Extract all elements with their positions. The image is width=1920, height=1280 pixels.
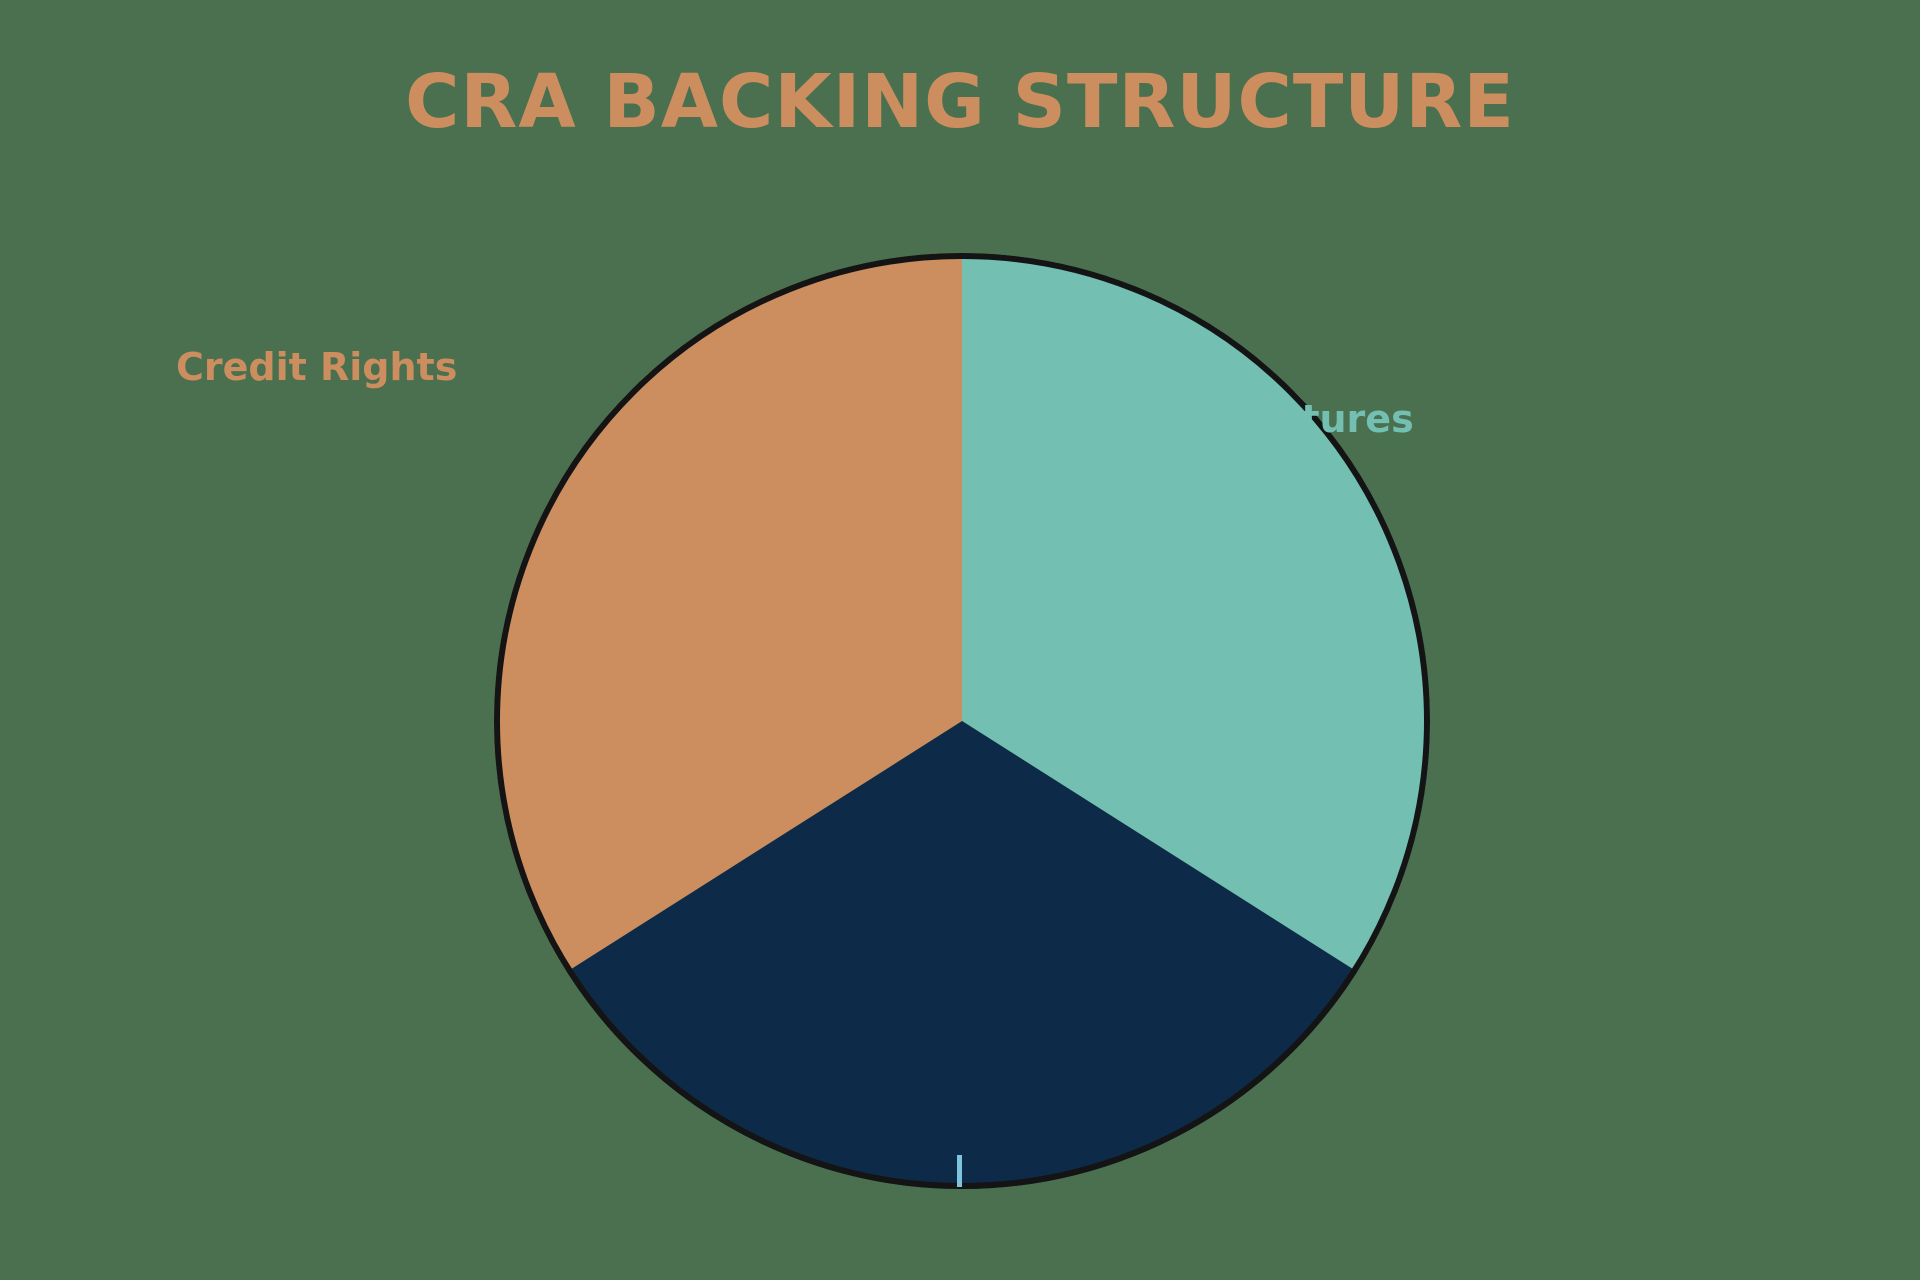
slice-label-others: Others bbox=[0, 990, 1920, 1030]
chart-canvas: CRA BACKING STRUCTURE Credit Rights Debe… bbox=[0, 0, 1920, 1280]
pie-chart bbox=[494, 253, 1430, 1189]
others-leader-line bbox=[957, 1155, 962, 1187]
pie-chart-svg bbox=[494, 253, 1430, 1189]
page-title: CRA BACKING STRUCTURE bbox=[0, 62, 1920, 143]
slice-label-debentures: Debentures bbox=[1164, 400, 1414, 438]
slice-label-credit-rights: Credit Rights bbox=[176, 348, 457, 386]
